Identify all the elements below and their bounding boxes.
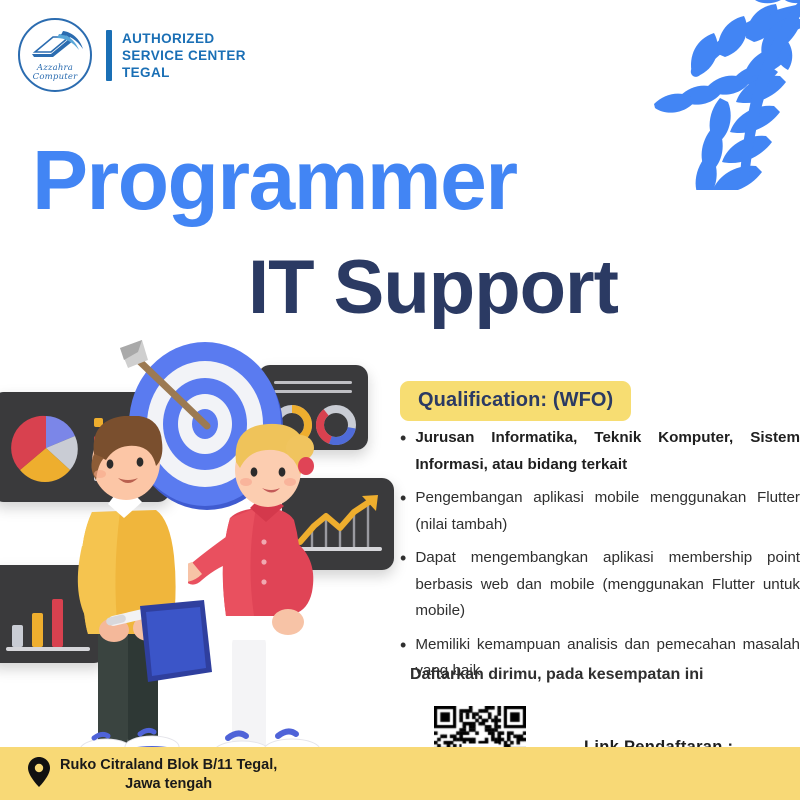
location-pin-icon — [28, 757, 50, 787]
brand-line-authorized: AUTHORIZED — [122, 30, 246, 47]
cta-text: Daftarkan dirimu, pada kesempatan ini — [410, 666, 703, 684]
list-item-text: Dapat mengembangkan aplikasi membership … — [415, 545, 800, 625]
footer-bar: Ruko Citraland Blok B/11 Tegal, Jawa ten… — [0, 747, 800, 800]
qualification-badge: Qualification: (WFO) — [400, 381, 631, 421]
brand-line-service-center: SERVICE CENTER — [122, 47, 246, 64]
headline-programmer: Programmer — [32, 132, 517, 228]
logo-script-text: Azzahra Computer — [20, 64, 90, 82]
list-item: • Jurusan Informatika, Teknik Komputer, … — [400, 425, 800, 478]
brand-text-block: AUTHORIZED SERVICE CENTER TEGAL — [106, 30, 246, 81]
bullet-icon: • — [400, 485, 406, 511]
poster-canvas: Azzahra Computer AUTHORIZED SERVICE CENT… — [0, 0, 800, 800]
bullet-icon: • — [400, 632, 406, 658]
address-line-1: Ruko Citraland Blok B/11 Tegal, — [60, 756, 277, 775]
laptop-book-icon — [29, 30, 85, 66]
bullet-icon: • — [400, 425, 406, 451]
headline-it-support: IT Support — [248, 245, 618, 331]
list-item: • Pengembangan aplikasi mobile menggunak… — [400, 485, 800, 538]
person-male-illustration — [48, 416, 198, 760]
bullet-icon: • — [400, 545, 406, 571]
list-item-text: Pengembangan aplikasi mobile menggunakan… — [415, 485, 800, 538]
brand-line-tegal: TEGAL — [122, 64, 246, 81]
address-line-2: Jawa tengah — [60, 775, 277, 794]
hero-illustration — [0, 330, 400, 760]
qualification-list: • Jurusan Informatika, Teknik Komputer, … — [400, 425, 800, 692]
brand-accent-bar — [106, 30, 112, 81]
brand-header: Azzahra Computer AUTHORIZED SERVICE CENT… — [18, 18, 246, 92]
person-female-illustration — [188, 422, 348, 762]
company-logo: Azzahra Computer — [18, 18, 92, 92]
leaf-decoration-icon — [596, 0, 800, 190]
list-item: • Dapat mengembangkan aplikasi membershi… — [400, 545, 800, 625]
list-item-text: Jurusan Informatika, Teknik Komputer, Si… — [415, 425, 800, 478]
